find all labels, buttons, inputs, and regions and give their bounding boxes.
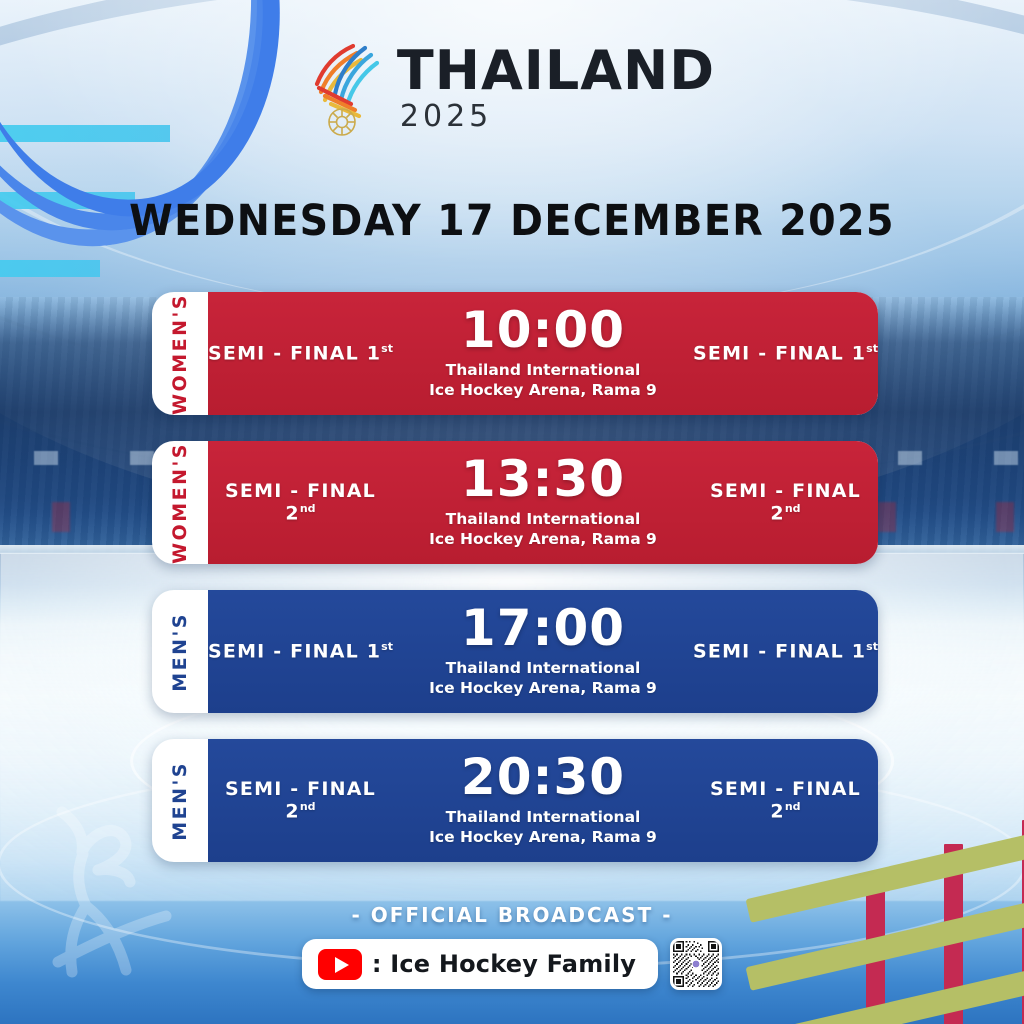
match-card[interactable]: MEN'S SEMI - FINAL 2nd 20:30 Thailand In…: [152, 739, 878, 862]
broadcast-row: : Ice Hockey Family: [0, 938, 1024, 990]
right-stage-label: SEMI - FINAL 1st: [693, 342, 878, 364]
match-schedule-list: WOMEN'S SEMI - FINAL 1st 10:00 Thailand …: [152, 292, 878, 888]
qr-code[interactable]: [670, 938, 722, 990]
broadcast-title: - OFFICIAL BROADCAST -: [0, 903, 1024, 927]
category-label: WOMEN'S: [152, 441, 208, 564]
right-stage-text: SEMI - FINAL 1: [693, 641, 866, 663]
category-text: WOMEN'S: [169, 442, 191, 564]
left-stage-text: SEMI - FINAL 1: [208, 343, 381, 365]
logo-year: 2025: [400, 102, 492, 132]
match-venue: Thailand International Ice Hockey Arena,…: [393, 659, 693, 699]
youtube-play-icon: [318, 949, 362, 980]
right-stage-sup: nd: [785, 502, 801, 515]
category-text: MEN'S: [169, 612, 191, 692]
category-label: MEN'S: [152, 590, 208, 713]
match-center-block: 13:30 Thailand International Ice Hockey …: [393, 454, 693, 552]
venue-line-1: Thailand International: [393, 361, 693, 381]
match-panel: SEMI - FINAL 1st 17:00 Thailand Internat…: [208, 590, 878, 713]
thailand-2025-logo-icon: [309, 38, 383, 138]
right-stage-label: SEMI - FINAL 1st: [693, 640, 878, 662]
left-stage-text: SEMI - FINAL 1: [208, 641, 381, 663]
youtube-channel-label: : Ice Hockey Family: [372, 950, 636, 978]
venue-line-1: Thailand International: [393, 659, 693, 679]
event-logo: THAILAND 2025: [0, 38, 1024, 138]
match-center-block: 10:00 Thailand International Ice Hockey …: [393, 305, 693, 403]
venue-line-1: Thailand International: [393, 808, 693, 828]
match-center-block: 20:30 Thailand International Ice Hockey …: [393, 752, 693, 850]
match-time: 13:30: [393, 454, 693, 504]
left-stage-label: SEMI - FINAL 2nd: [208, 778, 393, 822]
page-title: WEDNESDAY 17 DECEMBER 2025: [41, 196, 983, 246]
match-center-block: 17:00 Thailand International Ice Hockey …: [393, 603, 693, 701]
logo-title: THAILAND: [397, 44, 715, 98]
venue-line-2: Ice Hockey Arena, Rama 9: [393, 828, 693, 848]
right-stage-sup: nd: [785, 800, 801, 813]
match-venue: Thailand International Ice Hockey Arena,…: [393, 808, 693, 848]
category-label: WOMEN'S: [152, 292, 208, 415]
match-venue: Thailand International Ice Hockey Arena,…: [393, 510, 693, 550]
match-time: 10:00: [393, 305, 693, 355]
right-stage-label: SEMI - FINAL 2nd: [693, 778, 878, 822]
logo-wordmark: THAILAND 2025: [397, 44, 715, 132]
match-card[interactable]: WOMEN'S SEMI - FINAL 2nd 13:30 Thailand …: [152, 441, 878, 564]
left-stage-sup: nd: [300, 502, 316, 515]
venue-line-2: Ice Hockey Arena, Rama 9: [393, 679, 693, 699]
match-venue: Thailand International Ice Hockey Arena,…: [393, 361, 693, 401]
right-stage-text: SEMI - FINAL 1: [693, 343, 866, 365]
match-time: 20:30: [393, 752, 693, 802]
left-stage-label: SEMI - FINAL 1st: [208, 342, 393, 364]
match-panel: SEMI - FINAL 1st 10:00 Thailand Internat…: [208, 292, 878, 415]
left-stage-sup: nd: [300, 800, 316, 813]
match-card[interactable]: MEN'S SEMI - FINAL 1st 17:00 Thailand In…: [152, 590, 878, 713]
left-stage-sup: st: [381, 342, 393, 355]
left-stage-label: SEMI - FINAL 1st: [208, 640, 393, 662]
match-card[interactable]: WOMEN'S SEMI - FINAL 1st 10:00 Thailand …: [152, 292, 878, 415]
right-stage-label: SEMI - FINAL 2nd: [693, 480, 878, 524]
category-text: WOMEN'S: [169, 293, 191, 415]
match-time: 17:00: [393, 603, 693, 653]
match-panel: SEMI - FINAL 2nd 20:30 Thailand Internat…: [208, 739, 878, 862]
left-stage-label: SEMI - FINAL 2nd: [208, 480, 393, 524]
cyan-stripe-3: [0, 260, 100, 277]
venue-line-1: Thailand International: [393, 510, 693, 530]
category-label: MEN'S: [152, 739, 208, 862]
category-text: MEN'S: [169, 761, 191, 841]
venue-line-2: Ice Hockey Arena, Rama 9: [393, 381, 693, 401]
left-stage-sup: st: [381, 640, 393, 653]
right-stage-sup: st: [866, 342, 878, 355]
match-panel: SEMI - FINAL 2nd 13:30 Thailand Internat…: [208, 441, 878, 564]
youtube-channel-button[interactable]: : Ice Hockey Family: [302, 939, 658, 989]
venue-line-2: Ice Hockey Arena, Rama 9: [393, 530, 693, 550]
poster-canvas: THAILAND 2025 WEDNESDAY 17 DECEMBER 2025…: [0, 0, 1024, 1024]
right-stage-sup: st: [866, 640, 878, 653]
